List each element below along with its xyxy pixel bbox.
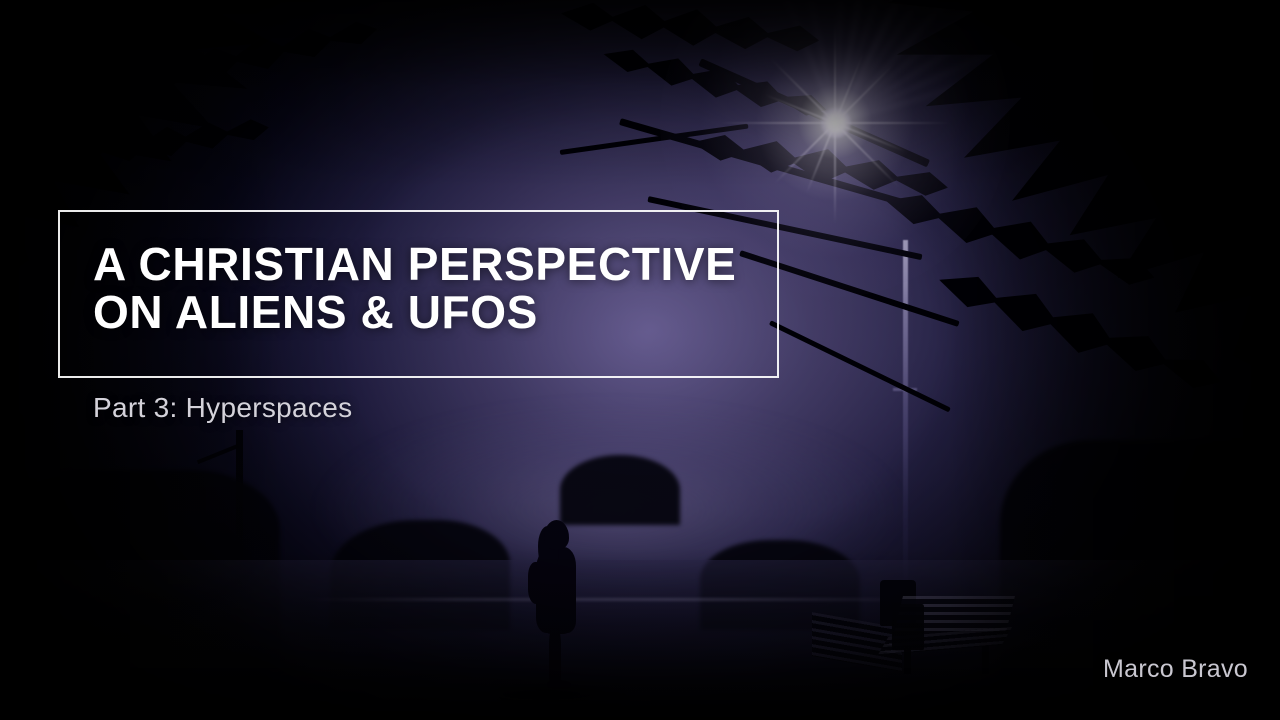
author-name: Marco Bravo	[1103, 654, 1248, 684]
slide-title: A Christian Perspective On Aliens & UFOs	[93, 240, 793, 336]
slide-subtitle: Part 3: Hyperspaces	[93, 390, 352, 426]
presentation-slide: A Christian Perspective On Aliens & UFOs…	[0, 0, 1280, 720]
